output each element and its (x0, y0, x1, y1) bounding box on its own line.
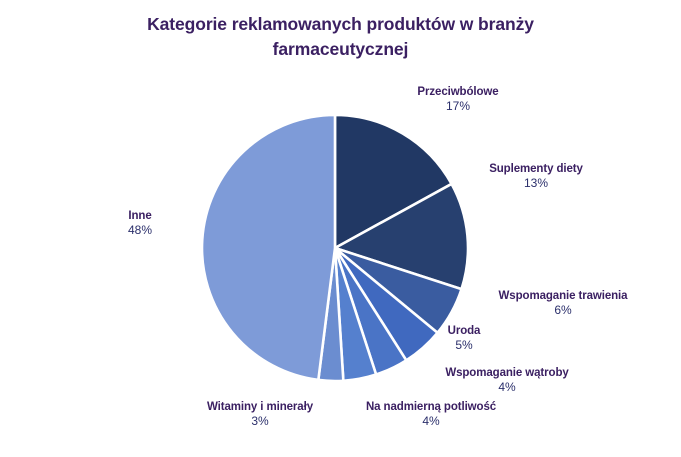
slice-label-wspomaganie-watroby: Wspomaganie wątroby 4% (409, 366, 605, 395)
slice-value-text: 6% (458, 303, 668, 318)
slice-label-witaminy-i-mineraly: Witaminy i minerały 3% (184, 400, 336, 429)
slice-label-uroda: Uroda 5% (409, 324, 519, 353)
slice-label-wspomaganie-trawienia: Wspomaganie trawienia 6% (458, 289, 668, 318)
slice-label-text: Uroda (448, 325, 481, 337)
slice-value-text: 3% (184, 414, 336, 429)
slice-label-przeciwbolowe: Przeciwbólowe 17% (368, 85, 548, 114)
pie-slice (202, 115, 335, 380)
slice-label-suplementy-diety: Suplementy diety 13% (440, 162, 632, 191)
slice-value-text: 48% (104, 223, 176, 238)
slice-label-inne: Inne 48% (104, 209, 176, 238)
slice-value-text: 4% (409, 380, 605, 395)
slice-label-na-nadmierna-potliwosc: Na nadmierną potliwość 4% (333, 400, 529, 429)
slice-value-text: 4% (333, 414, 529, 429)
slice-label-text: Wspomaganie trawienia (499, 290, 628, 302)
slice-label-text: Witaminy i minerały (207, 401, 313, 413)
slice-label-text: Wspomaganie wątroby (445, 367, 568, 379)
slice-value-text: 5% (409, 338, 519, 353)
slice-value-text: 13% (440, 176, 632, 191)
slice-label-text: Przeciwbólowe (417, 86, 498, 98)
slice-label-text: Suplementy diety (489, 163, 583, 175)
pie-chart-figure: Kategorie reklamowanych produktów w bran… (0, 0, 681, 457)
slice-label-text: Inne (128, 210, 151, 222)
slice-label-text: Na nadmierną potliwość (366, 401, 496, 413)
slice-value-text: 17% (368, 99, 548, 114)
